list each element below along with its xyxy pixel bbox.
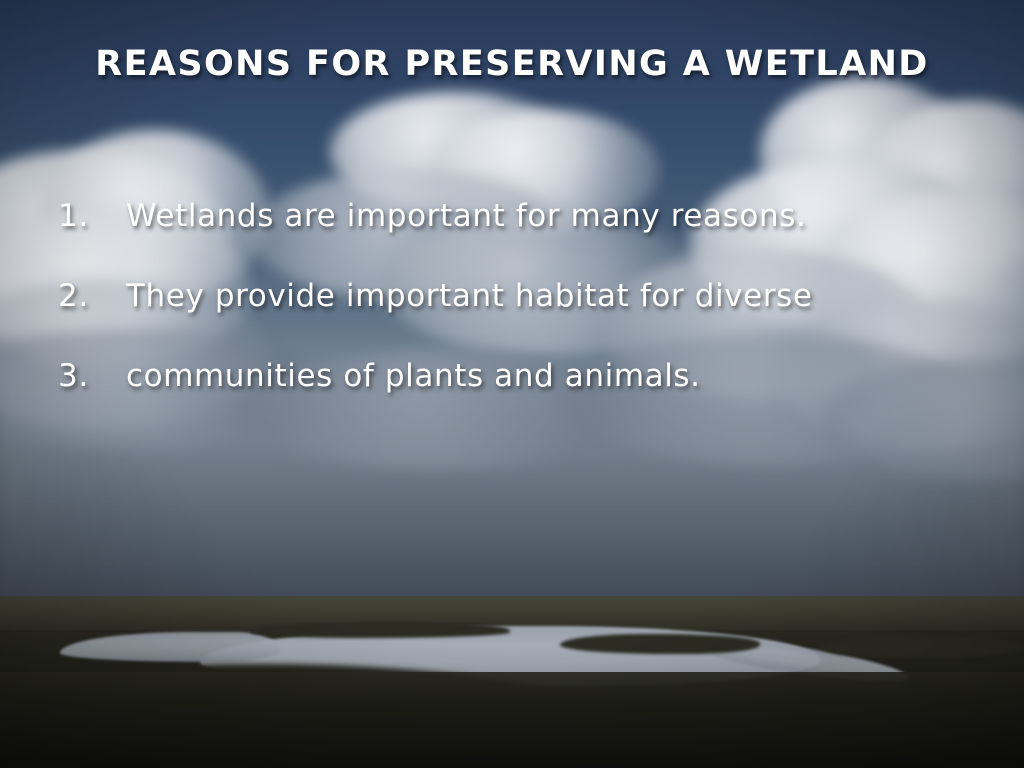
slide-title: REASONS FOR PRESERVING A WETLAND xyxy=(0,44,1024,84)
list-item-text: Wetlands are important for many reasons. xyxy=(126,198,998,234)
list-item: 2. They provide important habitat for di… xyxy=(58,278,998,358)
slide-text-layer: REASONS FOR PRESERVING A WETLAND 1. Wetl… xyxy=(0,0,1024,768)
list-item-number: 3. xyxy=(58,358,126,394)
list-item-text: They provide important habitat for diver… xyxy=(126,278,998,314)
slide-canvas: REASONS FOR PRESERVING A WETLAND 1. Wetl… xyxy=(0,0,1024,768)
list-item-number: 1. xyxy=(58,198,126,234)
list-item-number: 2. xyxy=(58,278,126,314)
list-item: 1. Wetlands are important for many reaso… xyxy=(58,198,998,278)
list-item-text: communities of plants and animals. xyxy=(126,358,998,394)
list-item: 3. communities of plants and animals. xyxy=(58,358,998,438)
reasons-list: 1. Wetlands are important for many reaso… xyxy=(58,198,998,438)
